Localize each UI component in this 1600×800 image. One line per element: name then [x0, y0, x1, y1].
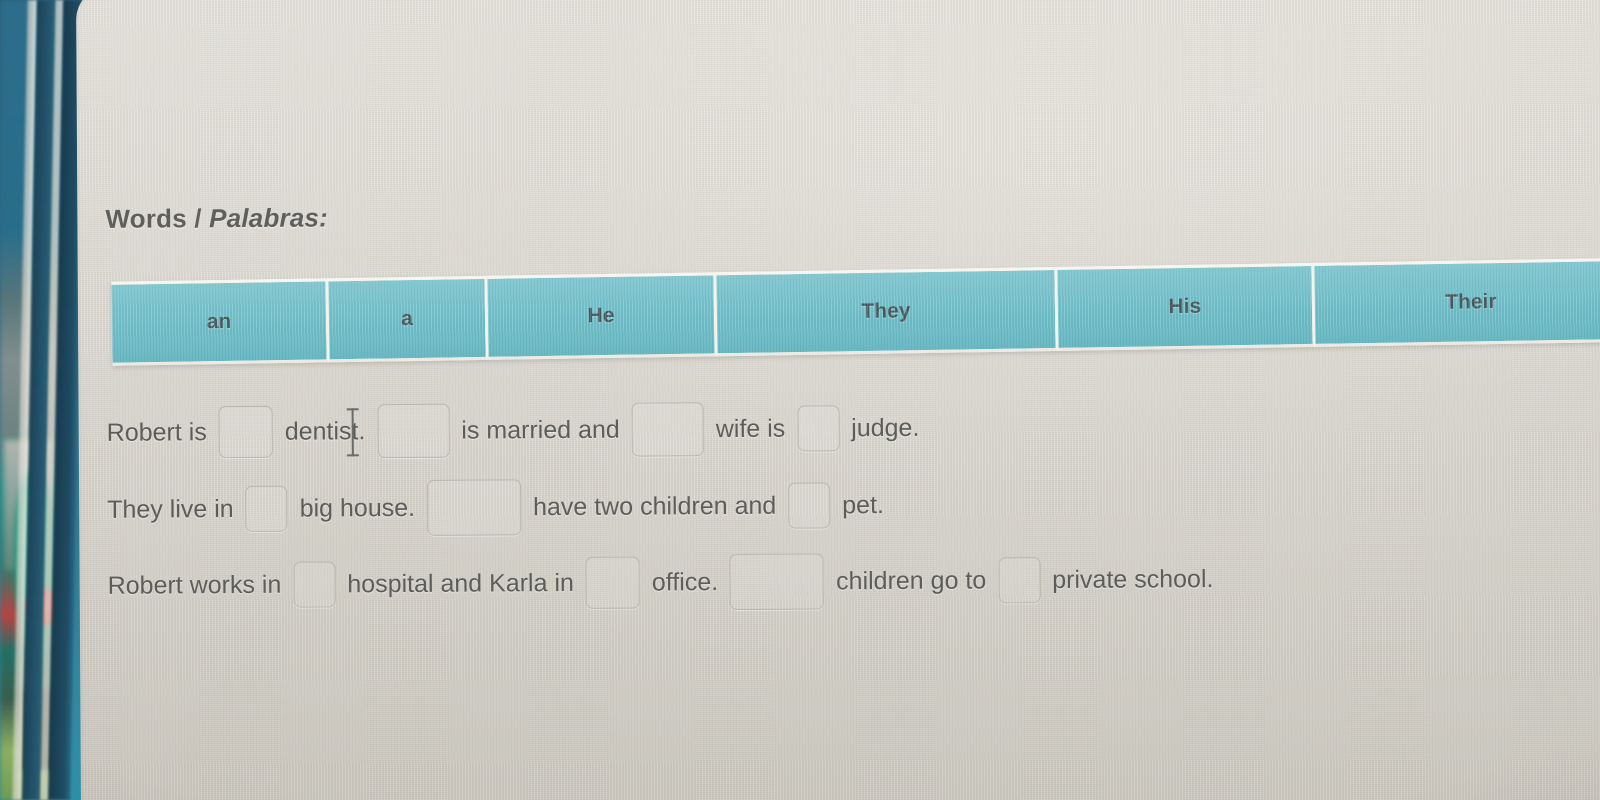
sentence-text-fragment: Robert is — [107, 418, 207, 448]
sentence-text-fragment: hospital and Karla in — [347, 568, 574, 598]
word-bank-item-they[interactable]: They — [716, 267, 1058, 356]
words-heading-es: Palabras: — [209, 202, 328, 233]
words-heading-separator: / — [187, 203, 209, 233]
sentence-text-fragment: Robert works in — [108, 570, 282, 600]
worksheet-panel: Words / Palabras: an a He They His Their… — [76, 0, 1600, 800]
word-bank-label: Their — [1445, 290, 1497, 315]
text-cursor-stem — [352, 408, 354, 456]
blank-input-2-1[interactable] — [246, 486, 288, 532]
blank-input-1-4[interactable] — [797, 405, 839, 451]
word-bank-label: a — [401, 307, 413, 331]
sentence-text-fragment: big house. — [300, 493, 416, 523]
word-bank-label: He — [587, 304, 614, 328]
word-bank-item-he[interactable]: He — [487, 272, 717, 360]
word-bank-label: They — [861, 299, 910, 324]
sentence-text-fragment: They live in — [107, 495, 234, 525]
screenshot-stage: Words / Palabras: an a He They His Their… — [0, 0, 1600, 800]
word-bank-label: an — [207, 310, 232, 334]
word-bank-item-his[interactable]: His — [1057, 263, 1315, 351]
blank-input-3-4[interactable] — [998, 557, 1040, 603]
blank-input-2-3[interactable] — [788, 482, 830, 528]
word-bank-item-their[interactable]: Their — [1314, 258, 1600, 347]
words-heading-en: Words — [105, 203, 187, 233]
text-cursor-icon — [347, 408, 359, 456]
blank-input-3-1[interactable] — [293, 561, 335, 607]
words-heading: Words / Palabras: — [105, 202, 328, 234]
sentence-text-fragment: have two children and — [533, 491, 776, 521]
sentence-text-fragment: is married and — [461, 415, 620, 445]
blank-input-2-2[interactable] — [427, 479, 521, 536]
sentence-text-fragment: private school. — [1052, 565, 1213, 595]
exercise-sentence-3: Robert works inhospital and Karla inoffi… — [103, 551, 1217, 614]
sentence-text-fragment: wife is — [716, 414, 786, 443]
blank-input-1-1[interactable] — [219, 406, 273, 458]
sentence-text-fragment: children go to — [836, 566, 986, 596]
blank-input-1-2[interactable] — [377, 404, 449, 458]
sentence-text-fragment: office. — [652, 568, 718, 597]
sentence-text-fragment: pet. — [842, 491, 884, 520]
word-bank-item-an[interactable]: an — [111, 278, 329, 365]
blank-input-3-3[interactable] — [730, 553, 824, 610]
word-bank-item-a[interactable]: a — [328, 276, 488, 362]
word-bank: an a He They His Their — [111, 258, 1600, 366]
blank-input-3-2[interactable] — [586, 557, 640, 609]
exercise-sentence-2: They live inbig house.have two children … — [103, 477, 888, 538]
exercise-sentence-1: Robert isdentist.is married andwife isju… — [103, 401, 924, 460]
word-bank-label: His — [1168, 295, 1201, 320]
blank-input-1-3[interactable] — [632, 402, 704, 456]
sentence-text-fragment: judge. — [851, 413, 919, 442]
